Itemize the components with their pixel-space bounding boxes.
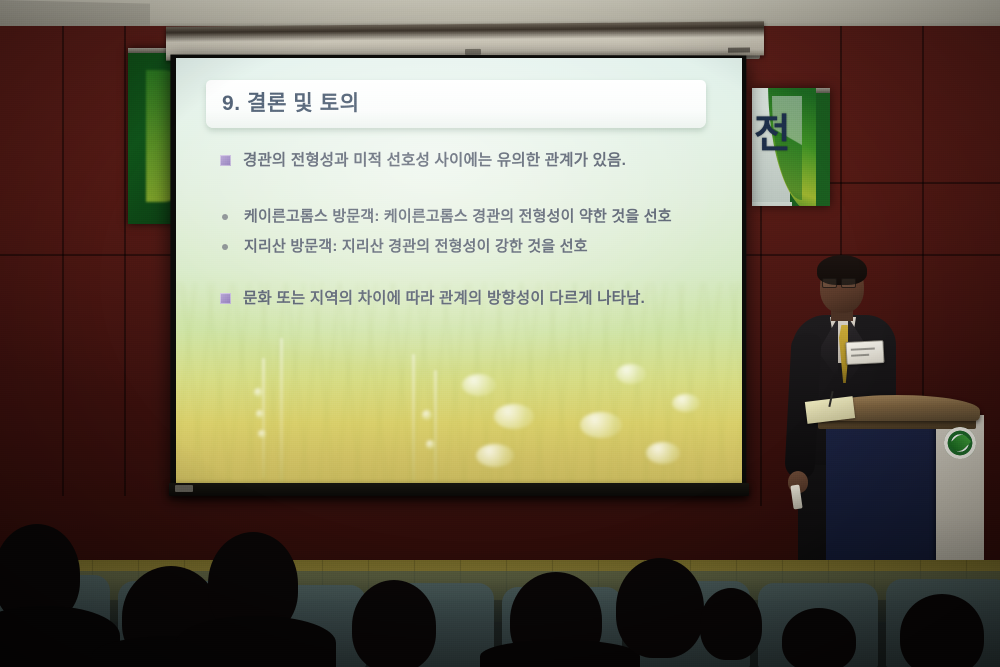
projection-screen-weight-bar [169,483,749,496]
slide-title: 9. 결론 및 토의 [222,87,360,117]
slide-bg-dewdrop [462,374,496,396]
wall-seam [62,26,64,496]
audience-shoulders [480,640,640,667]
screen-brand-label [728,48,750,53]
slide-bullet-list: 경관의 전형성과 미적 선호성 사이에는 유의한 관계가 있음. 케이른고롬스 … [210,150,722,310]
badge-text-line [851,347,875,350]
audience [0,498,1000,667]
slide-bg-dewdrop [476,444,514,467]
wall-seam [124,26,126,496]
organization-leaf-logo-icon [944,427,976,459]
presentation-photo-scene: 전 9. 결론 및 토의 경관의 전 [0,0,1000,667]
bullet-item: 지리산 방문객: 지리산 경관의 전형성이 강한 것을 선호 [210,236,722,258]
leaf-shape [949,432,972,455]
screen-pull-tab [175,485,193,492]
slide-bg-dewdrop [256,410,264,418]
audience-shoulders [176,616,336,667]
slide-bg-dewdrop [426,440,435,449]
slide-bg-dewdrop [616,364,646,384]
slide-bg-dewdrop [672,394,700,412]
bullet-item: 문화 또는 지역의 차이에 따라 관계의 방향성이 다르게 나타남. [210,288,722,310]
wall-seam [760,166,762,506]
slide-bg-grass-blade [434,370,437,482]
badge-text-line [851,354,869,357]
audience-head [616,558,704,658]
slide-bg-grass-blade [280,338,283,483]
slide-bg-dewdrop [422,410,432,420]
slide-bg-dewdrop [494,404,534,429]
bullet-text: 경관의 전형성과 미적 선호성 사이에는 유의한 관계가 있음. [243,150,626,172]
square-bullet-icon [220,293,231,304]
bullet-text: 지리산 방문객: 지리산 경관의 전형성이 강한 것을 선호 [244,236,588,258]
slide-bg-dewdrop [258,430,266,438]
wall-banner-right: 전 [752,88,830,206]
projected-slide: 9. 결론 및 토의 경관의 전형성과 미적 선호성 사이에는 유의한 관계가 … [176,58,742,483]
banner-bottom-band [752,202,792,206]
slide-bg-dewdrop [580,412,622,438]
dot-bullet-icon [222,214,228,220]
banner-text: 전 [754,114,796,154]
audience-head [700,588,762,660]
bullet-spacer [210,172,722,206]
slide-bg-dewdrop [254,388,263,397]
glasses-icon [822,278,856,286]
audience-head [900,594,984,667]
dot-bullet-icon [222,244,228,250]
bullet-spacer [210,258,722,288]
slide-bg-grass-blade [412,354,415,482]
audience-head [782,608,856,667]
bullet-text: 케이른고롬스 방문객: 케이른고롬스 경관의 전형성이 약한 것을 선호 [244,206,672,228]
square-bullet-icon [220,155,231,166]
slide-bg-dewdrop [646,442,680,464]
bullet-item: 경관의 전형성과 미적 선호성 사이에는 유의한 관계가 있음. [210,150,722,172]
audience-head [352,580,436,667]
bullet-text: 문화 또는 지역의 차이에 따라 관계의 방향성이 다르게 나타남. [243,288,645,310]
bullet-item: 케이른고롬스 방문객: 케이른고롬스 경관의 전형성이 약한 것을 선호 [210,206,722,228]
presenter-name-badge [845,340,884,365]
slide-bg-grass-blade [262,358,265,478]
